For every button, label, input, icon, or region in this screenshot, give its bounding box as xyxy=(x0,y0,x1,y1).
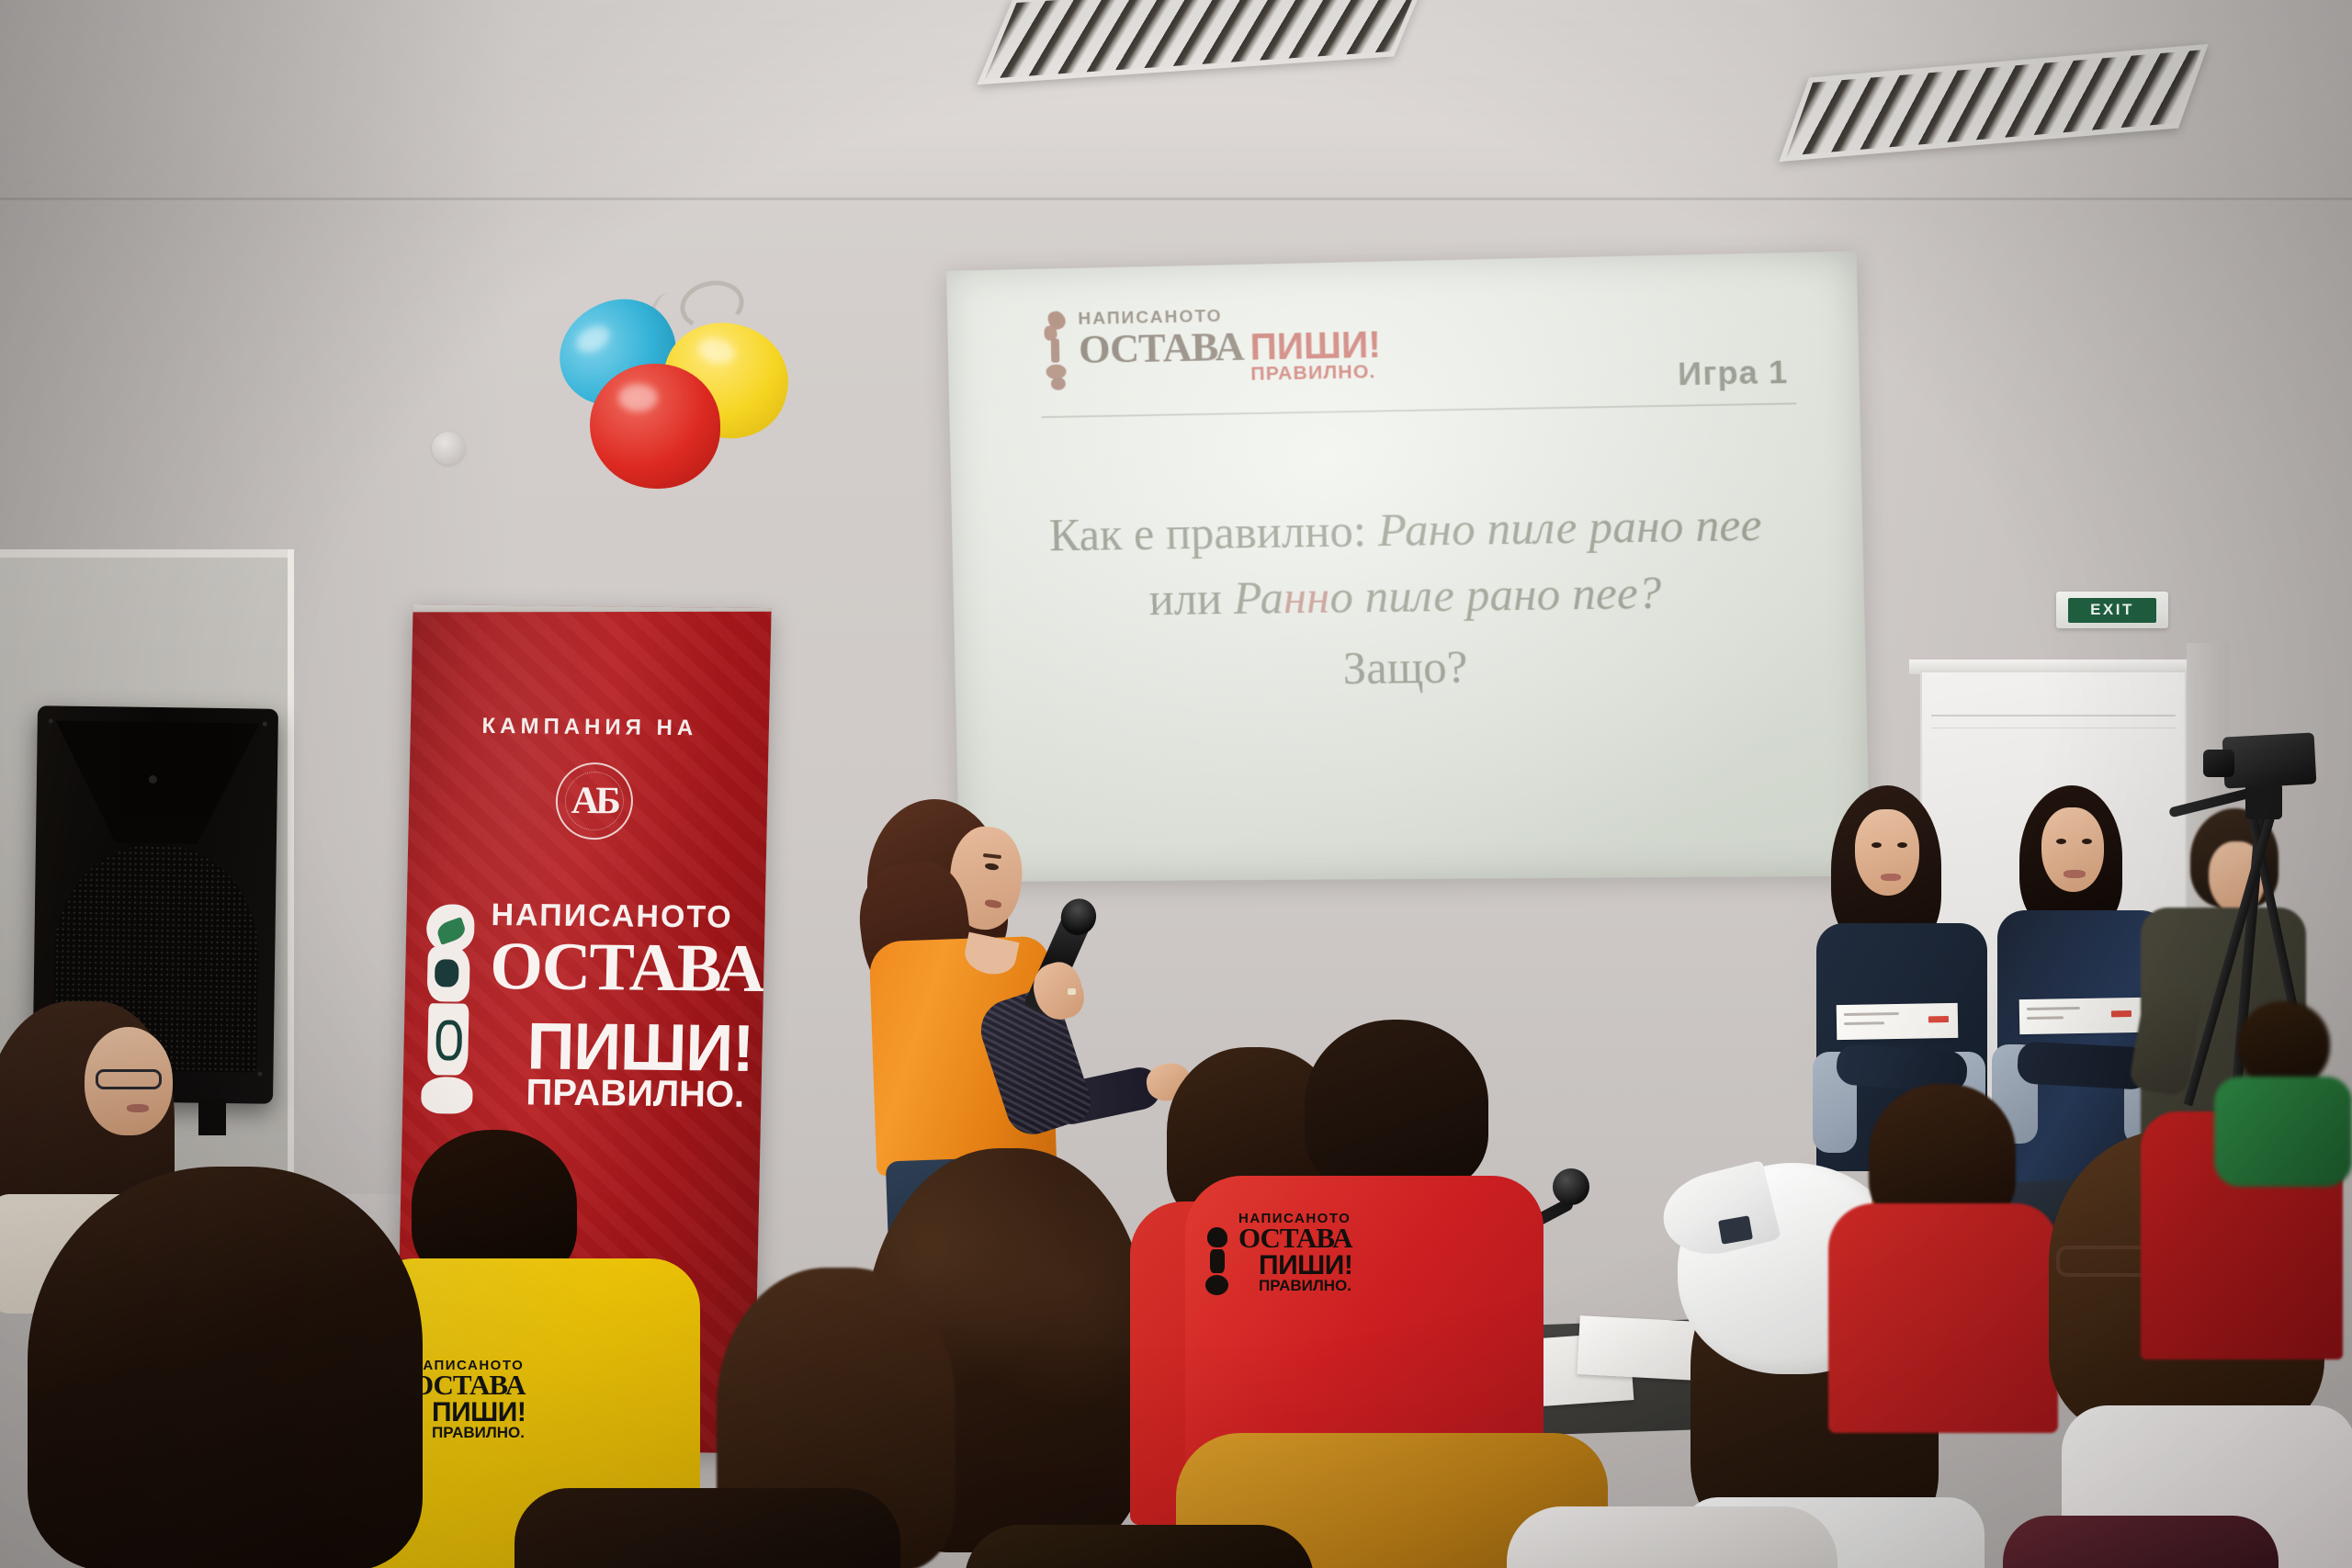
question-lead: Как е правилно: xyxy=(1048,504,1378,561)
exit-sign-plate: EXIT xyxy=(2068,598,2156,623)
girl-mouth xyxy=(127,1104,149,1112)
question-option-b-prefix: Ра xyxy=(1233,571,1284,624)
door-panel-line-secondary xyxy=(1931,728,2176,728)
logo-line-2: ОСТАВА xyxy=(1079,326,1244,370)
banner-line-2: ОСТАВА xyxy=(490,932,760,1003)
foreground-head xyxy=(965,1525,1314,1568)
tshirt-ornament-icon xyxy=(1205,1227,1229,1295)
audience-foreground-row xyxy=(2003,1516,2278,1568)
exit-sign: EXIT xyxy=(2056,592,2168,628)
desk-microphone-capsule xyxy=(1553,1168,1589,1205)
camera-lens-icon xyxy=(2203,750,2234,777)
banner-ornamental-initial-icon xyxy=(417,904,484,1125)
woman-face xyxy=(1855,809,1919,896)
banner-wordmark-words: НАПИСАНОТО ОСТАВА ПИШИ! ПРАВИЛНО. xyxy=(487,899,760,1113)
tshirt-line-2: ОСТАВА xyxy=(1238,1225,1352,1252)
speaker-horn-tweeter xyxy=(54,720,260,844)
door-panel-line xyxy=(1931,715,2176,716)
audience-girl-red-behind xyxy=(1828,1084,2067,1433)
projection-screen: НАПИСАНОТО ОСТАВА ПИШИ! ПРАВИЛНО. Игра 1 xyxy=(946,251,1871,882)
girl-red-top xyxy=(1828,1203,2058,1433)
woman-eye xyxy=(1897,842,1907,848)
balloon-cluster xyxy=(551,276,808,514)
foreground-maroon-shoulder xyxy=(2003,1516,2278,1568)
campaign-logo-words: НАПИСАНОТО ОСТАВА ПИШИ! ПРАВИЛНО. xyxy=(1078,304,1381,386)
woman-eye xyxy=(1871,842,1882,848)
slide-header: НАПИСАНОТО ОСТАВА ПИШИ! ПРАВИЛНО. Игра 1 xyxy=(999,292,1806,415)
woman-eye xyxy=(2056,839,2066,844)
held-campaign-card xyxy=(2019,998,2143,1034)
institute-monogram: АБ xyxy=(571,782,617,821)
question-option-b-suffix: о пиле рано пее? xyxy=(1329,566,1662,623)
audience-foreground-row xyxy=(1507,1506,1837,1568)
banner-wordmark: НАПИСАНОТО ОСТАВА ПИШИ! ПРАВИЛНО. xyxy=(417,898,760,1128)
ornamental-initial-icon xyxy=(1041,310,1074,396)
logo-line-row: ОСТАВА ПИШИ! ПРАВИЛНО. xyxy=(1079,323,1382,386)
campaign-logo-icon: НАПИСАНОТО ОСТАВА ПИШИ! ПРАВИЛНО. xyxy=(1041,304,1382,396)
logo-line-4: ПРАВИЛНО. xyxy=(1250,363,1382,383)
tshirt-line-4: ПРАВИЛНО. xyxy=(1259,1279,1352,1293)
slide-game-label: Игра 1 xyxy=(1678,354,1789,393)
video-camera xyxy=(2222,732,2317,788)
balloon-red xyxy=(590,364,720,489)
woman-mouth xyxy=(2064,870,2086,878)
question-option-b-highlight: нн xyxy=(1283,570,1330,623)
presentation-room-photo: EXIT НАПИСАНОТО ОСТАВА ПИШИ! ПР xyxy=(0,0,2352,1568)
banner-kampania-label: КАМПАНИЯ НА xyxy=(411,713,770,742)
audience-foreground-row xyxy=(965,1525,1314,1568)
tshirt-line-3: ПИШИ! xyxy=(432,1400,526,1426)
held-campaign-card xyxy=(1837,1003,1959,1040)
tripod-head xyxy=(2245,783,2282,819)
presentation-slide: НАПИСАНОТО ОСТАВА ПИШИ! ПРАВИЛНО. Игра 1 xyxy=(946,251,1871,882)
audience-green-shirt-kid xyxy=(2214,1001,2352,1185)
woman-eye xyxy=(2082,839,2092,844)
tshirt-line-4: ПРАВИЛНО. xyxy=(432,1426,526,1440)
woman-face xyxy=(2041,807,2104,892)
question-option-a: Рано пиле рано пее xyxy=(1377,498,1762,556)
girl-eyeglasses-icon xyxy=(96,1069,162,1089)
question-why: Защо? xyxy=(1023,630,1795,705)
foreground-head xyxy=(514,1488,900,1568)
tshirt-line-3: ПИШИ! xyxy=(1259,1253,1352,1279)
banner-line-4: ПРАВИЛНО. xyxy=(526,1074,756,1113)
question-conjunction: или xyxy=(1148,572,1234,626)
speaker-screw xyxy=(257,1072,262,1077)
presenter-ring xyxy=(1068,988,1076,995)
logo-red-stack: ПИШИ! ПРАВИЛНО. xyxy=(1249,328,1381,382)
wall-fixture-dot-left xyxy=(432,432,465,465)
boy-hair xyxy=(1305,1020,1488,1194)
exit-sign-label: EXIT xyxy=(2090,601,2134,619)
audience-girl-long-dark-hair xyxy=(28,1167,432,1568)
institute-seal-icon: АБ xyxy=(555,762,634,840)
girl-long-hair xyxy=(28,1167,423,1568)
green-tshirt xyxy=(2214,1077,2352,1187)
speaker-screw xyxy=(49,718,53,723)
foreground-white-shoulder xyxy=(1507,1506,1837,1568)
tshirt-print-red: НАПИСАНОТО ОСТАВА ПИШИ! ПРАВИЛНО. xyxy=(1238,1213,1352,1293)
slide-question-text: Как е правилно: Рано пиле рано пее или Р… xyxy=(1003,491,1813,705)
audience-foreground-row xyxy=(514,1488,900,1568)
woman-mouth xyxy=(1881,874,1901,881)
speaker-screw xyxy=(263,722,267,727)
logo-line-3: ПИШИ! xyxy=(1249,328,1381,365)
